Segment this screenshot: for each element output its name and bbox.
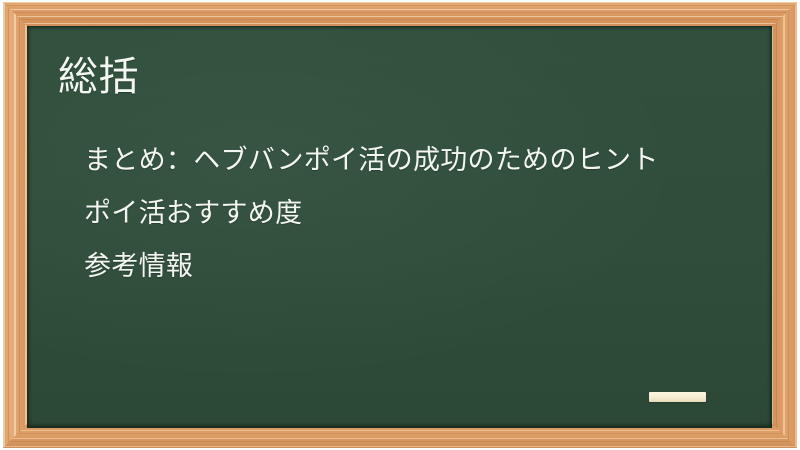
chalk-stick xyxy=(649,392,706,402)
bullet-item: 参考情報 xyxy=(84,240,752,293)
board-bottom-shadow xyxy=(27,425,772,428)
chalkboard-surface: 総括 まとめ：ヘブバンポイ活の成功のためのヒント ポイ活おすすめ度 参考情報 xyxy=(27,26,772,428)
bullet-item: まとめ：ヘブバンポイ活の成功のためのヒント xyxy=(84,134,752,187)
frame-rail-left xyxy=(3,2,29,448)
bullet-list: まとめ：ヘブバンポイ活の成功のためのヒント ポイ活おすすめ度 参考情報 xyxy=(84,134,752,293)
slide-title: 総括 xyxy=(58,54,139,101)
bullet-item: ポイ活おすすめ度 xyxy=(84,187,752,240)
frame-rail-top xyxy=(3,2,797,28)
frame-rail-right xyxy=(771,2,797,448)
chalkboard-slide: 総括 まとめ：ヘブバンポイ活の成功のためのヒント ポイ活おすすめ度 参考情報 xyxy=(0,0,800,450)
